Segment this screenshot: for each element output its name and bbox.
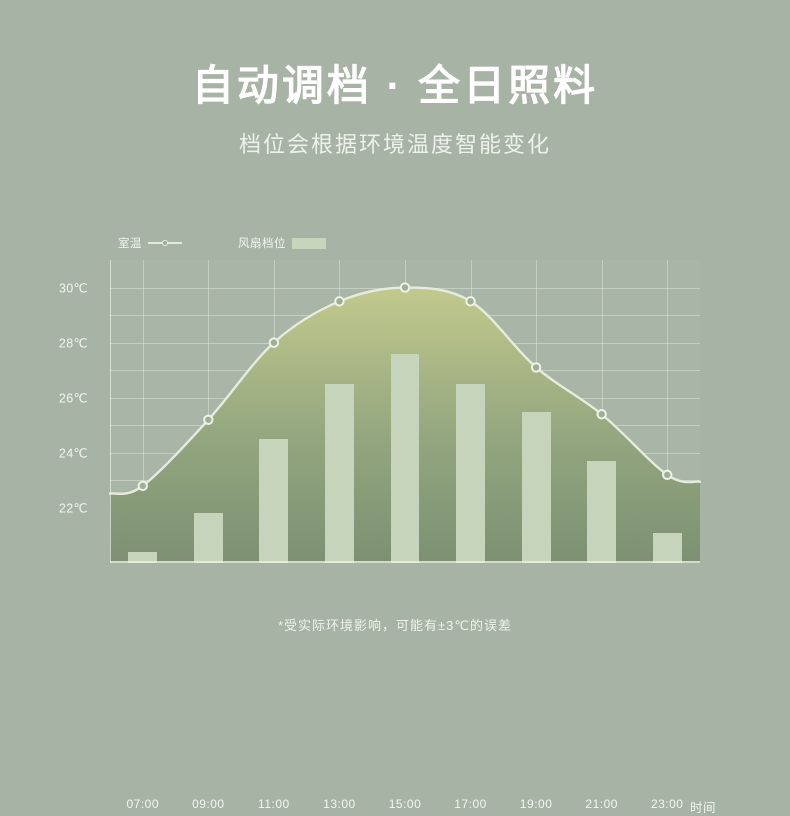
data-point-marker — [663, 471, 671, 479]
data-point-marker — [335, 297, 343, 305]
x-axis-tick-label: 07:00 — [127, 797, 160, 811]
y-axis-tick-label: 24℃ — [28, 445, 88, 460]
bar — [653, 533, 682, 563]
data-point-marker — [139, 482, 147, 490]
bar — [325, 384, 354, 563]
promo-page: 自动调档 · 全日照料 档位会根据环境温度智能变化 室温 风扇档位 — [0, 0, 790, 708]
data-point-marker — [401, 283, 409, 291]
legend-item-temperature: 室温 — [118, 235, 182, 251]
data-point-marker — [270, 338, 278, 346]
data-point-marker — [466, 297, 474, 305]
bar — [259, 439, 288, 563]
legend-label-temperature: 室温 — [118, 235, 142, 251]
bar — [587, 461, 616, 563]
plot-area — [110, 260, 700, 563]
temperature-fan-chart: 室温 风扇档位 — [0, 225, 790, 625]
data-point-marker — [597, 410, 605, 418]
data-point-marker — [204, 416, 212, 424]
x-axis-line — [110, 561, 700, 563]
page-subtitle: 档位会根据环境温度智能变化 — [0, 127, 790, 159]
bar — [456, 384, 485, 563]
y-axis-tick-label: 22℃ — [28, 500, 88, 515]
x-axis-tick-label: 13:00 — [323, 797, 356, 811]
x-axis-tick-label: 17:00 — [454, 797, 487, 811]
y-axis-line — [110, 260, 111, 563]
legend-label-fan: 风扇档位 — [238, 235, 286, 251]
x-axis-tick-label: 15:00 — [389, 797, 422, 811]
disclaimer-note: *受实际环境影响，可能有±3℃的误差 — [0, 615, 790, 634]
bar — [194, 513, 223, 563]
header: 自动调档 · 全日照料 档位会根据环境温度智能变化 — [0, 60, 790, 159]
x-axis-tick-label: 11:00 — [258, 797, 290, 811]
x-axis-tick-label: 09:00 — [192, 797, 225, 811]
line-marker-icon — [148, 242, 182, 244]
bar-swatch-icon — [292, 238, 326, 249]
x-axis-tick-label: 23:00 — [651, 797, 684, 811]
y-axis-tick-label: 28℃ — [28, 335, 88, 350]
x-axis-tick-label: 21:00 — [585, 797, 618, 811]
chart-legend: 室温 风扇档位 — [118, 235, 326, 251]
legend-item-fan: 风扇档位 — [238, 235, 326, 251]
x-axis-title: 时间 — [690, 797, 716, 816]
page-title: 自动调档 · 全日照料 — [0, 60, 790, 113]
bar — [522, 412, 551, 564]
y-axis-tick-label: 30℃ — [28, 280, 88, 295]
x-axis-tick-label: 19:00 — [520, 797, 553, 811]
bar — [391, 354, 420, 563]
data-point-marker — [532, 363, 540, 371]
y-axis-tick-label: 26℃ — [28, 390, 88, 405]
